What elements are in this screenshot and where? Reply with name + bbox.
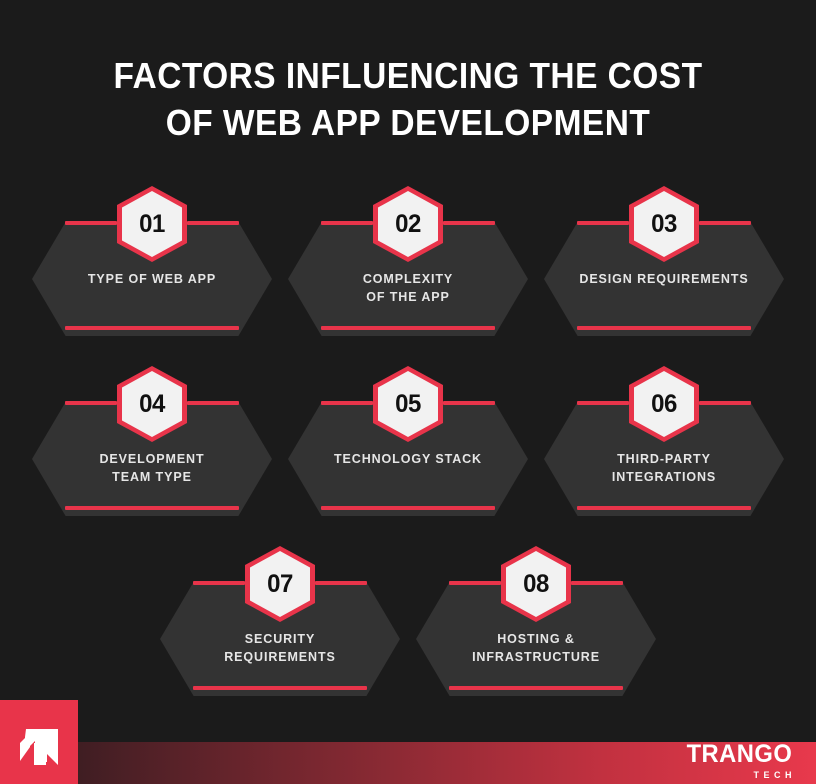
- accent-rule-top-right: [699, 221, 751, 225]
- factor-label: COMPLEXITY OF THE APP: [314, 270, 502, 306]
- number-badge: 01: [117, 186, 187, 262]
- badge-number: 01: [118, 186, 185, 262]
- page-title-line-2: OF WEB APP DEVELOPMENT: [29, 99, 788, 146]
- factor-card-01[interactable]: 01 TYPE OF WEB APP: [32, 186, 272, 336]
- accent-rule-top-left: [193, 581, 245, 585]
- number-badge: 06: [629, 366, 699, 442]
- factor-card-03[interactable]: 03 DESIGN REQUIREMENTS: [544, 186, 784, 336]
- accent-rule-bottom: [65, 326, 239, 330]
- infographic-canvas: FACTORS INFLUENCING THE COST OF WEB APP …: [0, 0, 816, 784]
- accent-rule-top-right: [187, 221, 239, 225]
- trango-arrow-logo-icon: [0, 700, 78, 784]
- page-title-line-1: FACTORS INFLUENCING THE COST: [29, 52, 788, 99]
- accent-rule-top-left: [321, 221, 373, 225]
- badge-number: 08: [502, 546, 569, 622]
- accent-rule-top-left: [577, 401, 629, 405]
- badge-number: 02: [374, 186, 441, 262]
- page-title: FACTORS INFLUENCING THE COST OF WEB APP …: [0, 52, 816, 146]
- accent-rule-top-right: [187, 401, 239, 405]
- badge-number: 03: [630, 186, 697, 262]
- badge-number: 06: [630, 366, 697, 442]
- accent-rule-top-left: [449, 581, 501, 585]
- badge-number: 05: [374, 366, 441, 442]
- footer: TRANGO TECH: [0, 700, 816, 784]
- accent-rule-top-right: [443, 221, 495, 225]
- factors-row-1: 01 TYPE OF WEB APP 02 COMPLEXITY OF THE …: [0, 186, 816, 336]
- number-badge: 05: [373, 366, 443, 442]
- accent-rule-top-left: [65, 221, 117, 225]
- badge-number: 07: [246, 546, 313, 622]
- brand-lockup: TRANGO TECH: [681, 742, 792, 780]
- factor-card-02[interactable]: 02 COMPLEXITY OF THE APP: [288, 186, 528, 336]
- accent-rule-top-left: [577, 221, 629, 225]
- accent-rule-bottom: [449, 686, 623, 690]
- accent-rule-top-right: [571, 581, 623, 585]
- accent-rule-bottom: [321, 506, 495, 510]
- factor-label: DESIGN REQUIREMENTS: [570, 270, 758, 288]
- accent-rule-bottom: [321, 326, 495, 330]
- factors-grid: 01 TYPE OF WEB APP 02 COMPLEXITY OF THE …: [0, 186, 816, 706]
- badge-number: 04: [118, 366, 185, 442]
- number-badge: 02: [373, 186, 443, 262]
- accent-rule-bottom: [577, 506, 751, 510]
- factor-label: THIRD-PARTY INTEGRATIONS: [570, 450, 758, 486]
- accent-rule-top-right: [443, 401, 495, 405]
- number-badge: 03: [629, 186, 699, 262]
- accent-rule-top-right: [699, 401, 751, 405]
- factor-card-06[interactable]: 06 THIRD-PARTY INTEGRATIONS: [544, 366, 784, 516]
- number-badge: 07: [245, 546, 315, 622]
- factors-row-2: 04 DEVELOPMENT TEAM TYPE 05 TECHNOLOGY S…: [0, 366, 816, 516]
- factors-row-3: 07 SECURITY REQUIREMENTS 08 HOSTING & IN…: [0, 546, 816, 696]
- factor-label: HOSTING & INFRASTRUCTURE: [442, 630, 630, 666]
- factor-card-04[interactable]: 04 DEVELOPMENT TEAM TYPE: [32, 366, 272, 516]
- accent-rule-top-right: [315, 581, 367, 585]
- factor-label: SECURITY REQUIREMENTS: [186, 630, 374, 666]
- accent-rule-bottom: [65, 506, 239, 510]
- accent-rule-top-left: [321, 401, 373, 405]
- number-badge: 08: [501, 546, 571, 622]
- factor-card-08[interactable]: 08 HOSTING & INFRASTRUCTURE: [416, 546, 656, 696]
- factor-label: TECHNOLOGY STACK: [314, 450, 502, 468]
- factor-label: DEVELOPMENT TEAM TYPE: [58, 450, 246, 486]
- factor-label: TYPE OF WEB APP: [58, 270, 246, 288]
- accent-rule-bottom: [193, 686, 367, 690]
- factor-card-07[interactable]: 07 SECURITY REQUIREMENTS: [160, 546, 400, 696]
- number-badge: 04: [117, 366, 187, 442]
- factor-card-05[interactable]: 05 TECHNOLOGY STACK: [288, 366, 528, 516]
- accent-rule-top-left: [65, 401, 117, 405]
- brand-subtitle: TECH: [681, 771, 796, 780]
- accent-rule-bottom: [577, 326, 751, 330]
- brand-name: TRANGO: [686, 742, 792, 767]
